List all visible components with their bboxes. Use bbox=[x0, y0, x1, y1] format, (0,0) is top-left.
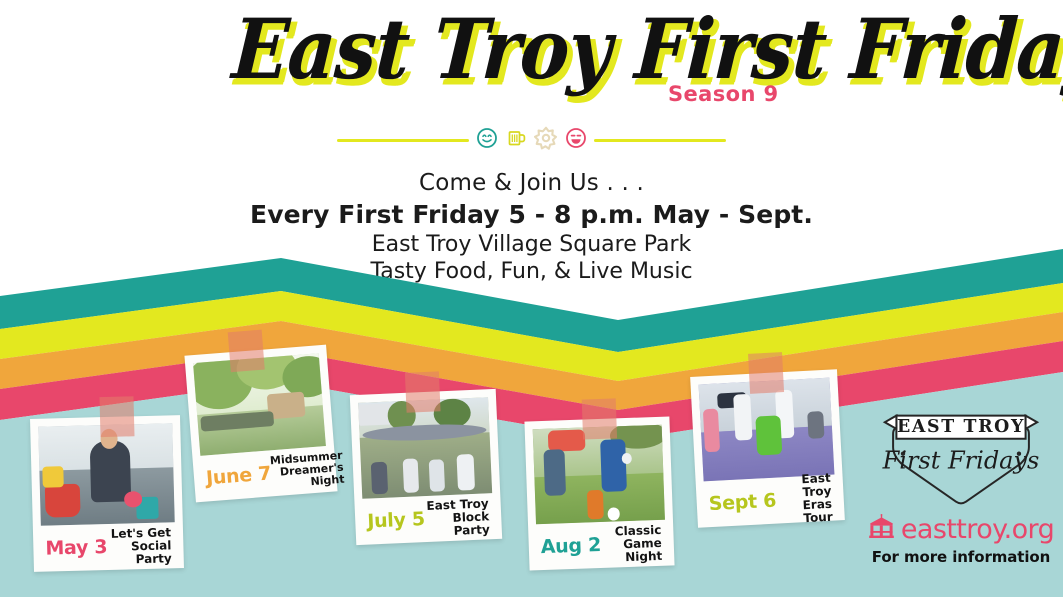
poster-canvas: East Troy First Fridays Season 9 bbox=[0, 0, 1063, 597]
info-line-location: East Troy Village Square Park bbox=[0, 232, 1063, 257]
event-caption-may: May 3 Let's Get Social Party bbox=[41, 522, 176, 571]
event-card-may[interactable]: May 3 Let's Get Social Party bbox=[30, 415, 184, 572]
event-photo-sept bbox=[699, 378, 835, 482]
event-date-sept: Sept 6 bbox=[708, 490, 776, 515]
event-date-may: May 3 bbox=[45, 536, 107, 560]
beer-mug-icon bbox=[505, 127, 527, 154]
event-caption-june: June 7 Midsummer Dreamer's Night bbox=[200, 446, 329, 502]
smiley-face-icon bbox=[476, 127, 498, 154]
event-card-june[interactable]: June 7 Midsummer Dreamer's Night bbox=[184, 345, 337, 503]
event-date-aug: Aug 2 bbox=[540, 534, 601, 558]
info-line-schedule: Every First Friday 5 - 8 p.m. May - Sept… bbox=[0, 200, 1063, 229]
brand-logo-block: EAST TROY First Fridays easttroy.org bbox=[866, 404, 1056, 566]
website-row[interactable]: easttroy.org bbox=[866, 514, 1056, 545]
tape-strip bbox=[582, 398, 617, 439]
tape-strip bbox=[228, 330, 265, 373]
event-caption-july: July 5 East Troy Block Party bbox=[362, 493, 494, 545]
divider-rule-left bbox=[337, 139, 469, 142]
event-date-july: July 5 bbox=[367, 508, 425, 532]
event-photo-aug bbox=[533, 425, 665, 525]
event-title-may: Let's Get Social Party bbox=[107, 526, 172, 567]
more-info-label: For more information bbox=[866, 548, 1056, 566]
event-title-july: East Troy Block Party bbox=[424, 497, 490, 539]
website-link[interactable]: easttroy.org bbox=[901, 514, 1054, 545]
stripe-orange bbox=[0, 312, 1063, 410]
event-info-block: Come & Join Us . . . Every First Friday … bbox=[0, 170, 1063, 284]
season-badge: Season 9 bbox=[668, 82, 779, 106]
event-date-june: June 7 bbox=[205, 463, 272, 490]
tape-strip bbox=[405, 371, 441, 412]
tape-strip bbox=[748, 352, 784, 394]
event-title-sept: East Troy Eras Tour bbox=[775, 472, 833, 527]
event-title-june: Midsummer Dreamer's Night bbox=[270, 450, 345, 492]
event-title-aug: Classic Game Night bbox=[600, 524, 662, 565]
divider-rule-right bbox=[594, 139, 726, 142]
east-troy-first-fridays-badge: EAST TROY First Fridays bbox=[878, 404, 1044, 510]
info-line-join: Come & Join Us . . . bbox=[0, 170, 1063, 196]
sun-flower-icon bbox=[534, 126, 558, 155]
badge-script-text: First Fridays bbox=[882, 447, 1040, 475]
event-card-july[interactable]: July 5 East Troy Block Party bbox=[350, 389, 502, 545]
laughing-face-icon bbox=[565, 127, 587, 154]
ornamental-divider bbox=[0, 126, 1063, 155]
info-line-features: Tasty Food, Fun, & Live Music bbox=[0, 259, 1063, 284]
event-caption-sept: Sept 6 East Troy Eras Tour bbox=[704, 474, 837, 527]
title-block: East Troy First Fridays Season 9 bbox=[0, 0, 1063, 120]
badge-banner-text: EAST TROY bbox=[897, 417, 1025, 437]
tape-strip bbox=[99, 396, 134, 437]
event-photo-july bbox=[358, 397, 492, 499]
event-photo-may bbox=[38, 423, 175, 526]
gazebo-icon bbox=[868, 514, 895, 545]
event-card-sept[interactable]: Sept 6 East Troy Eras Tour bbox=[690, 369, 845, 527]
event-caption-aug: Aug 2 Classic Game Night bbox=[536, 520, 667, 570]
event-card-aug[interactable]: Aug 2 Classic Game Night bbox=[524, 417, 674, 571]
stripe-yellow bbox=[0, 283, 1063, 381]
